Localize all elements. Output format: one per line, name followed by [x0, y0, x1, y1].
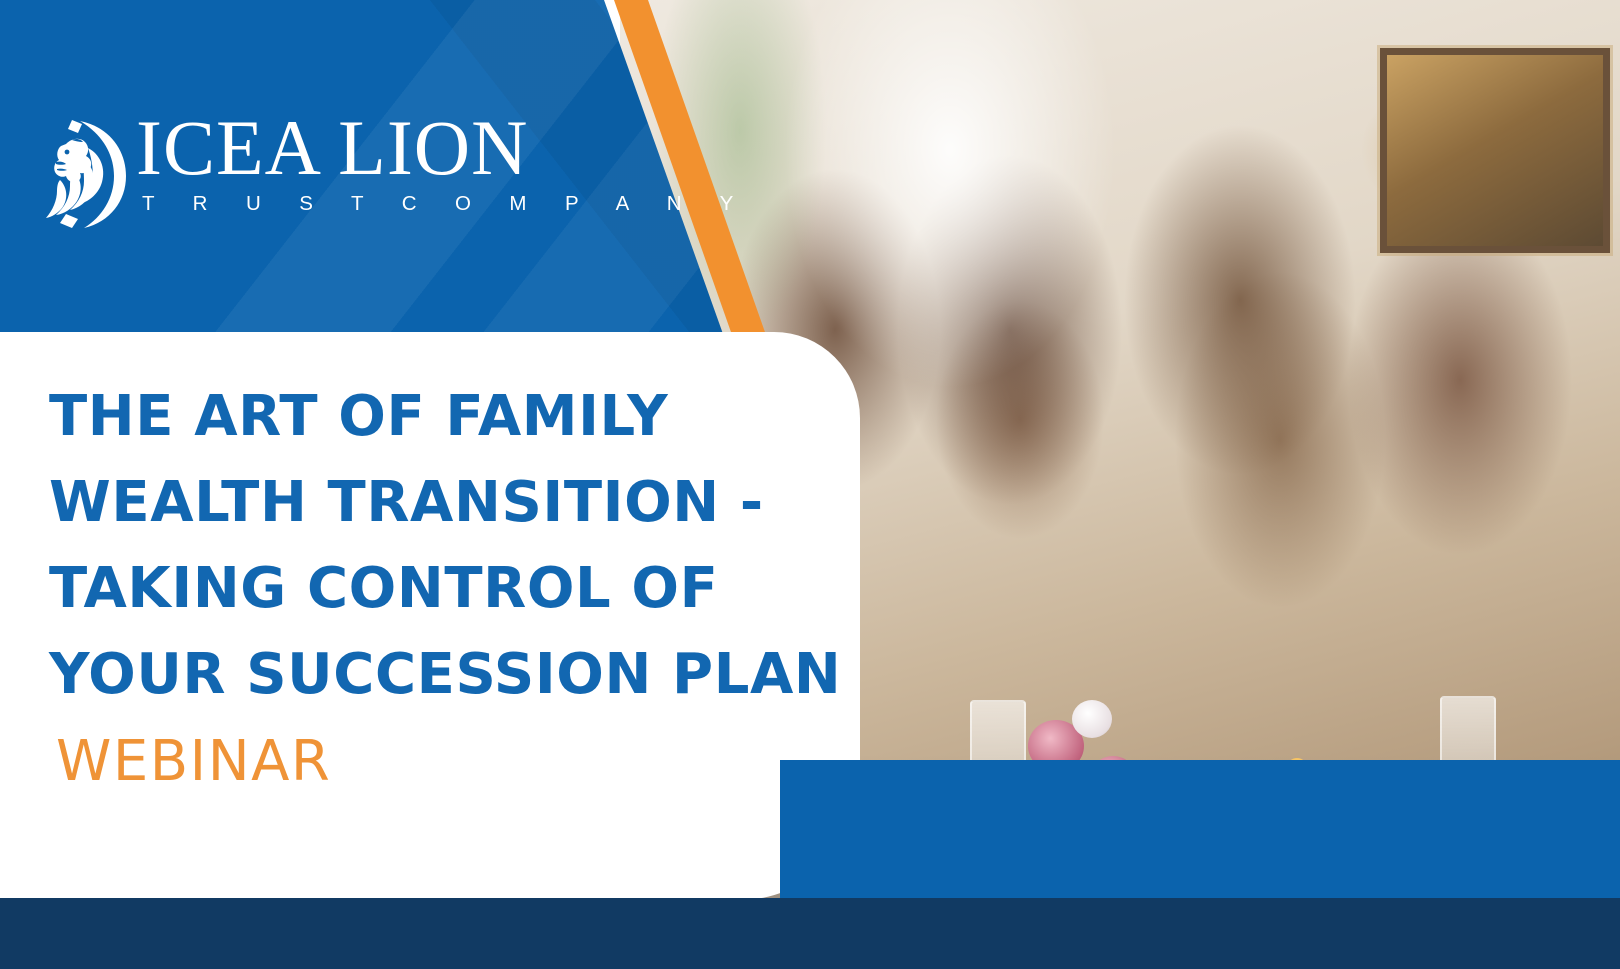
page-title: THE ART OF FAMILY WEALTH TRANSITION - TA… [49, 374, 839, 718]
headline-line-3: TAKING CONTROL OF [49, 546, 839, 632]
webinar-label: WEBINAR [56, 734, 331, 790]
lion-head-shield-icon [36, 118, 128, 230]
headline-line-1: THE ART OF FAMILY [49, 374, 839, 460]
wall-art-frame [1380, 48, 1610, 253]
brand-logo[interactable]: ICEA LION T R U S T C O M P A N Y [36, 112, 750, 230]
swoosh-bands [780, 760, 1620, 910]
swoosh-blue-band [780, 760, 1620, 910]
rose-bloom [1072, 700, 1112, 738]
logo-wordmark: ICEA LION T R U S T C O M P A N Y [136, 112, 750, 216]
headline-line-4: YOUR SUCCESSION PLAN [49, 632, 839, 718]
bottom-navy-bar [0, 898, 1620, 969]
brand-name: ICEA LION [136, 112, 750, 184]
webinar-promo-banner: ICEA LION T R U S T C O M P A N Y THE AR… [0, 0, 1620, 969]
brand-tagline: T R U S T C O M P A N Y [142, 192, 750, 216]
headline-line-2: WEALTH TRANSITION - [49, 460, 839, 546]
